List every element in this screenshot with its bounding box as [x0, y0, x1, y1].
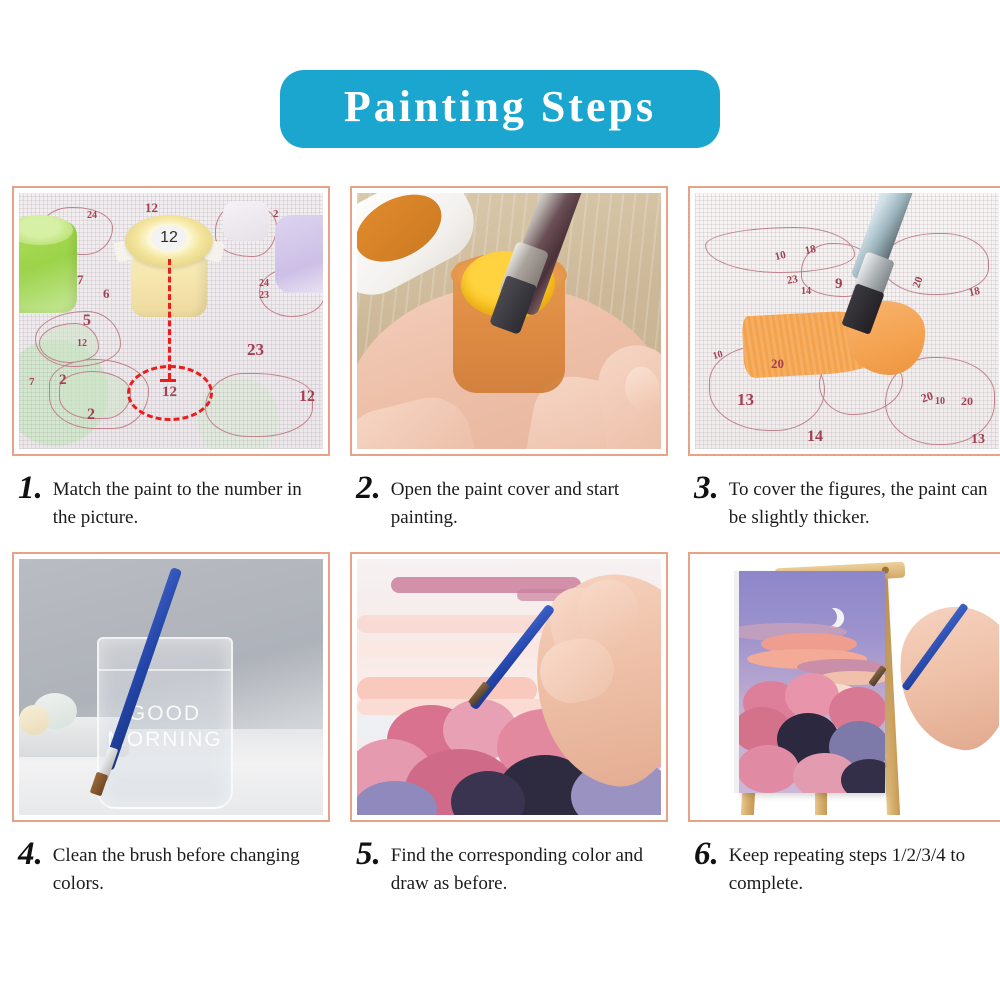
- fingernail: [622, 365, 661, 413]
- step-text: Open the paint cover and start painting.: [391, 470, 651, 531]
- step-number: 2.: [356, 470, 391, 505]
- finished-painting: [739, 571, 885, 793]
- steps-grid: 12 12 12 24 2 7 6 5 12 2 7 2 23 24: [0, 186, 1000, 918]
- canvas-number: 14: [807, 429, 823, 445]
- finished-painting-on-wooden-easel-image: [695, 559, 999, 815]
- step-number: 5.: [356, 836, 391, 871]
- canvas-number: 23: [259, 291, 269, 301]
- white-paint-pot: [223, 201, 269, 241]
- canvas-number: 13: [971, 433, 985, 447]
- step-text: Clean the brush before changing colors.: [53, 836, 313, 897]
- canvas-number: 2: [87, 407, 95, 423]
- canvas-number: 24: [259, 279, 269, 289]
- step-caption-1: 1. Match the paint to the number in the …: [12, 456, 330, 552]
- step-caption-6: 6. Keep repeating steps 1/2/3/4 to compl…: [688, 822, 1000, 918]
- canvas-number: 23: [247, 341, 264, 358]
- step-caption-3: 3. To cover the figures, the paint can b…: [688, 456, 1000, 552]
- step-number: 6.: [694, 836, 729, 871]
- page-title: Painting Steps: [332, 84, 668, 130]
- step-number: 1.: [18, 470, 53, 505]
- canvas-number: 10: [935, 397, 945, 407]
- photo-frame-2: [350, 186, 668, 456]
- brush-in-glass-of-water-image: GOOD MORNING: [19, 559, 323, 815]
- canvas-number: 7: [77, 273, 84, 286]
- canvas-number: 6: [103, 287, 110, 300]
- leaf-shape: [59, 371, 131, 419]
- photo-frame-5: [350, 552, 668, 822]
- green-paint-pot: [19, 221, 77, 313]
- header: Painting Steps: [0, 0, 1000, 148]
- step-caption-2: 2. Open the paint cover and start painti…: [350, 456, 668, 552]
- step-text: Keep repeating steps 1/2/3/4 to complete…: [729, 836, 989, 897]
- canvas-number: 14: [801, 287, 811, 297]
- step-card-5: 5. Find the corresponding color and draw…: [350, 552, 668, 918]
- step-caption-5: 5. Find the corresponding color and draw…: [350, 822, 668, 918]
- canvas-number: 23: [786, 274, 799, 287]
- canvas-number: 2: [59, 373, 67, 388]
- step-text: Match the paint to the number in the pic…: [53, 470, 313, 531]
- step-card-6: 6. Keep repeating steps 1/2/3/4 to compl…: [688, 552, 1000, 918]
- canvas-number: 9: [835, 277, 843, 292]
- step-text: Find the corresponding color and draw as…: [391, 836, 651, 897]
- step-card-4: GOOD MORNING 4. Clean the brush before c…: [12, 552, 330, 918]
- finger: [577, 579, 639, 647]
- canvas-number: 7: [29, 377, 35, 388]
- canvas-number: 2: [273, 209, 279, 220]
- hand-holding-open-paint-pot-with-brush-image: [357, 193, 661, 449]
- leaf-shape: [39, 323, 99, 363]
- finger: [357, 389, 486, 449]
- photo-frame-1: 12 12 12 24 2 7 6 5 12 2 7 2 23 24: [12, 186, 330, 456]
- lid-inner-paint: [357, 193, 453, 275]
- shape-outline: [205, 373, 313, 437]
- step-text: To cover the figures, the paint can be s…: [729, 470, 989, 531]
- step-card-1: 12 12 12 24 2 7 6 5 12 2 7 2 23 24: [12, 186, 330, 552]
- paint-pot-matching-canvas-number-image: 12 12 12 24 2 7 6 5 12 2 7 2 23 24: [19, 193, 323, 449]
- brush-painting-orange-on-numbered-canvas-image: 10 18 23 14 9 20 20 10 13 14 20 10 20 13…: [695, 193, 999, 449]
- photo-frame-6: [688, 552, 1000, 822]
- canvas-number: 12: [145, 201, 158, 214]
- canvas-number: 13: [737, 391, 754, 408]
- purple-paint-pot: [275, 215, 323, 293]
- annotation-dashed-line: [168, 259, 171, 379]
- photo-frame-3: 10 18 23 14 9 20 20 10 13 14 20 10 20 13…: [688, 186, 1000, 456]
- photo-frame-4: GOOD MORNING: [12, 552, 330, 822]
- canvas-number: 12: [77, 339, 87, 349]
- title-banner: Painting Steps: [280, 70, 720, 148]
- blossom-cluster: [739, 745, 799, 793]
- water-line: [99, 669, 231, 671]
- pot-number-label: 12: [151, 225, 187, 251]
- canvas-number: 12: [299, 389, 315, 405]
- canvas-number: 20: [961, 395, 973, 407]
- decor-object: [19, 705, 49, 735]
- hand-painting-cherry-blossom-canvas-image: [357, 559, 661, 815]
- canvas-number: 5: [83, 313, 91, 329]
- step-card-3: 10 18 23 14 9 20 20 10 13 14 20 10 20 13…: [688, 186, 1000, 552]
- step-card-2: 2. Open the paint cover and start painti…: [350, 186, 668, 552]
- canvas-number: 20: [771, 357, 784, 370]
- step-number: 3.: [694, 470, 729, 505]
- canvas-number: 24: [87, 211, 97, 221]
- canvas-number-highlight: 12: [162, 385, 177, 400]
- step-caption-4: 4. Clean the brush before changing color…: [12, 822, 330, 918]
- step-number: 4.: [18, 836, 53, 871]
- cherry-blossom-foliage: [739, 673, 885, 793]
